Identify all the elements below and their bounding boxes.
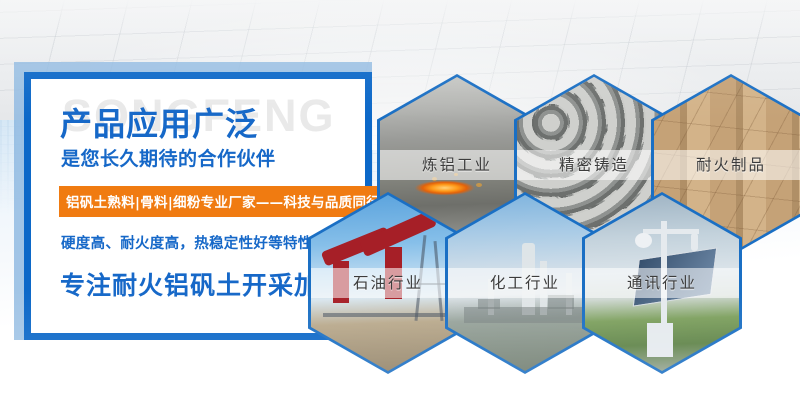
hex-label: 化工行业 — [448, 268, 602, 298]
promo-banner: SONGFENG 产品应用广泛 是您长久期待的合作伙伴 铝矾土熟料|骨料|细粉专… — [0, 0, 800, 400]
hex-label: 石油行业 — [311, 268, 465, 298]
hex-label: 耐火制品 — [654, 150, 800, 180]
industry-hexagon-grid: 炼铝工业 精密铸造 耐火制品 — [0, 0, 800, 400]
hex-label: 精密铸造 — [517, 150, 671, 180]
hex-label: 炼铝工业 — [380, 150, 534, 180]
hex-label: 通讯行业 — [585, 268, 739, 298]
